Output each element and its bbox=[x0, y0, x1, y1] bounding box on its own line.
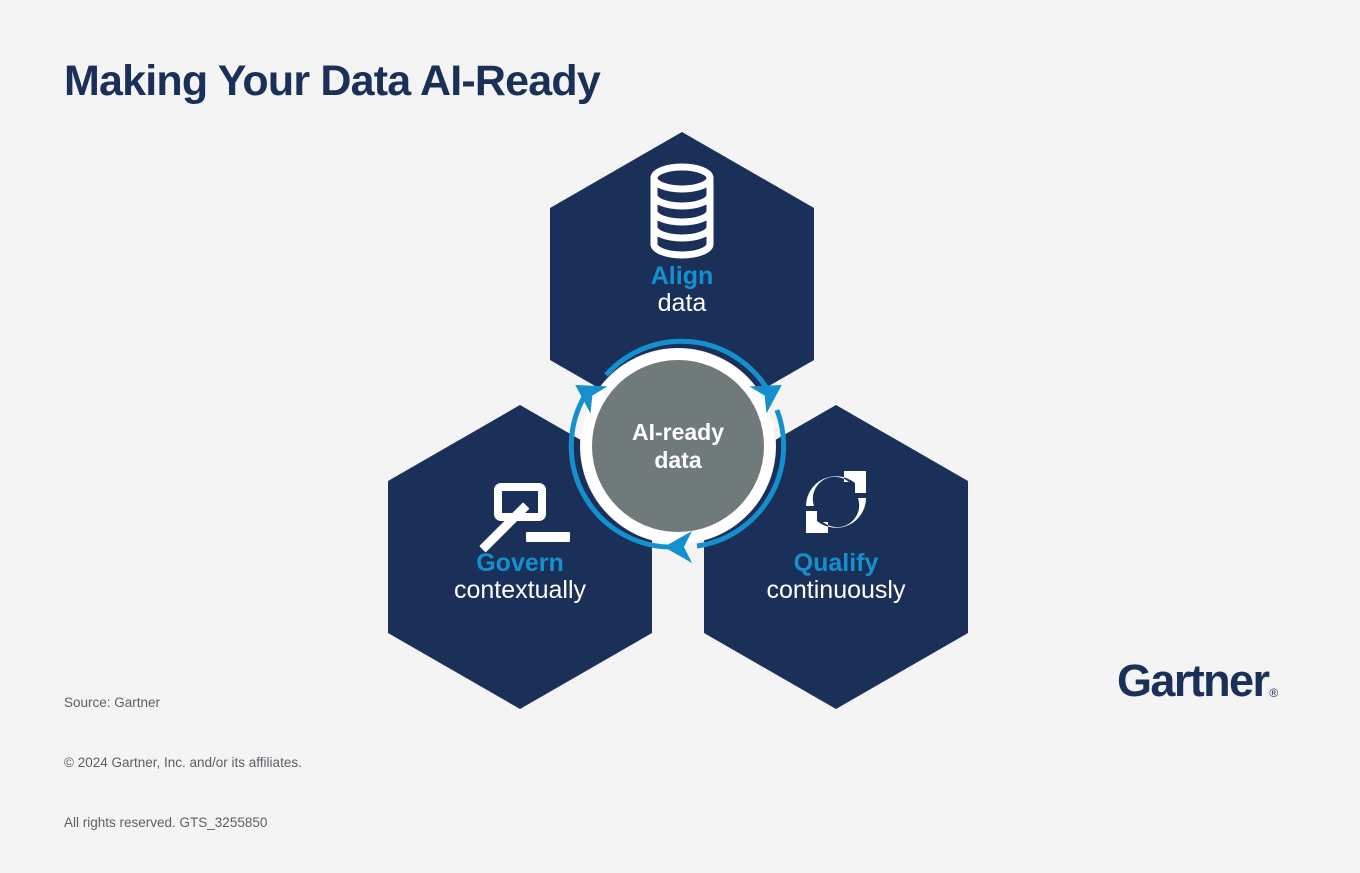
core-label-line2: data bbox=[654, 447, 702, 473]
registered-trademark-icon: ® bbox=[1269, 687, 1278, 699]
core-gray-disc bbox=[592, 360, 764, 532]
copyright-line: © 2024 Gartner, Inc. and/or its affiliat… bbox=[64, 753, 302, 773]
page-title: Making Your Data AI-Ready bbox=[64, 58, 600, 105]
gartner-logo: Gartner ® bbox=[1117, 655, 1278, 703]
rights-line: All rights reserved. GTS_3255850 bbox=[64, 813, 302, 833]
gartner-wordmark: Gartner bbox=[1117, 658, 1268, 703]
core-label-line1: AI-ready bbox=[632, 419, 724, 445]
source-attribution-block: Source: Gartner © 2024 Gartner, Inc. and… bbox=[64, 653, 302, 873]
ai-ready-data-cycle-diagram: Align data Govern contextually bbox=[360, 110, 1000, 720]
source-line: Source: Gartner bbox=[64, 693, 302, 713]
slide-canvas: Making Your Data AI-Ready Align bbox=[0, 0, 1360, 766]
